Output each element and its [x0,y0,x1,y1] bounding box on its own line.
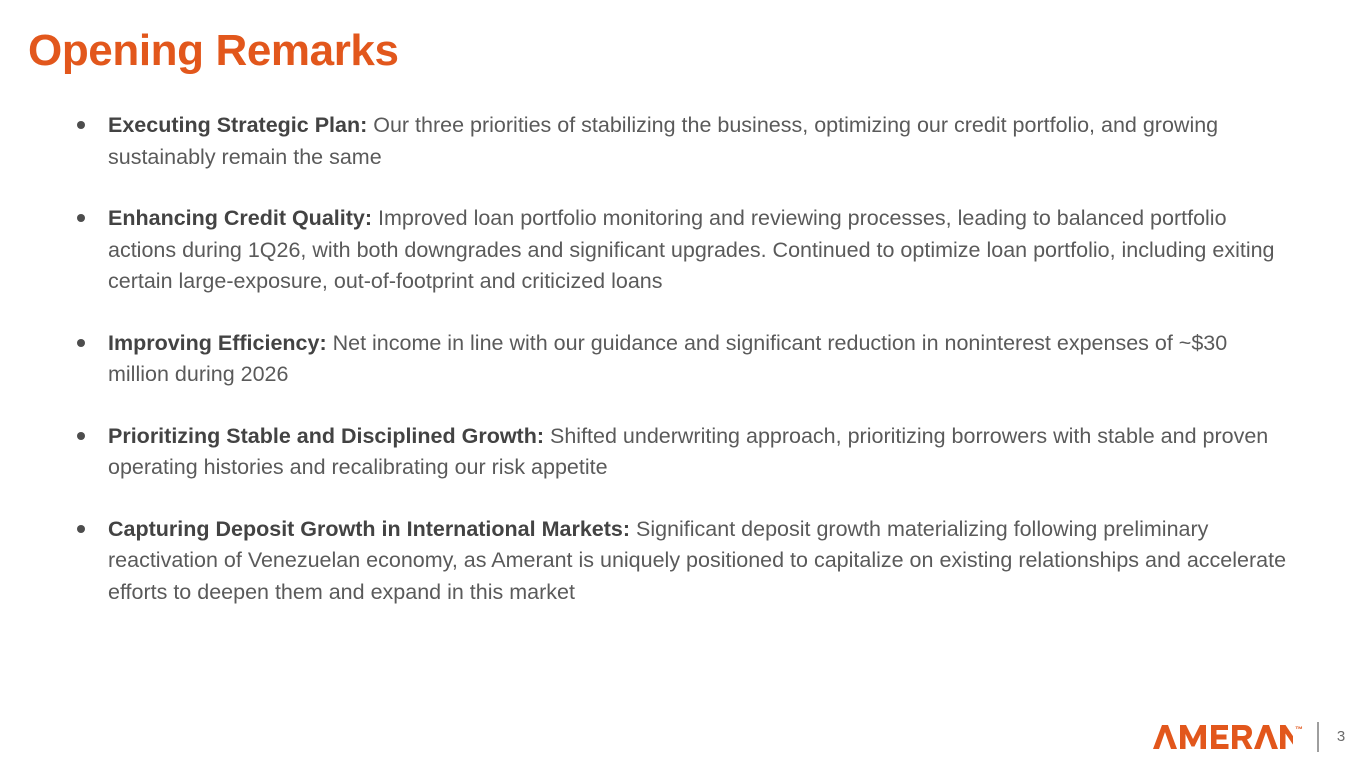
bullet-dot-icon [77,525,85,533]
list-item: Enhancing Credit Quality: Improved loan … [64,203,1294,298]
list-item: Executing Strategic Plan: Our three prio… [64,110,1294,173]
list-item: Capturing Deposit Growth in Internationa… [64,514,1294,609]
bullet-list: Executing Strategic Plan: Our three prio… [64,110,1294,608]
page-number: 3 [1335,729,1347,746]
list-item-lead: Prioritizing Stable and Disciplined Grow… [108,424,544,448]
bullet-dot-icon [77,339,85,347]
amerant-wordmark-icon [1153,724,1293,750]
bullet-dot-icon [77,121,85,129]
amerant-logo: ™ [1153,724,1303,750]
list-item: Prioritizing Stable and Disciplined Grow… [64,421,1294,484]
list-item-lead: Improving Efficiency: [108,331,327,355]
list-item-lead: Capturing Deposit Growth in Internationa… [108,517,630,541]
slide: Opening Remarks Executing Strategic Plan… [0,0,1365,768]
list-item: Improving Efficiency: Net income in line… [64,328,1294,391]
bullet-dot-icon [77,432,85,440]
bullet-dot-icon [77,214,85,222]
trademark-icon: ™ [1295,726,1303,734]
footer-divider [1317,722,1319,752]
page-title: Opening Remarks [28,22,399,80]
list-item-lead: Executing Strategic Plan: [108,113,367,137]
slide-footer: ™ 3 [1153,720,1347,754]
list-item-lead: Enhancing Credit Quality: [108,206,372,230]
